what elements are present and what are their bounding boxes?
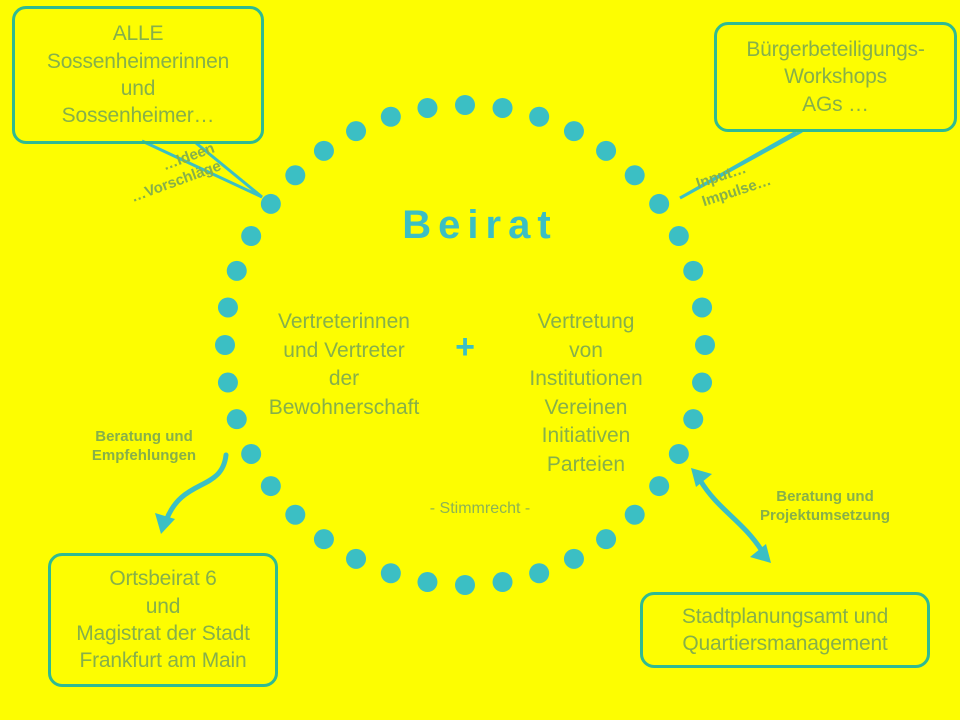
- council-left-line-0: Vertreterinnen: [255, 308, 433, 337]
- annotation-beratung-left-line-0: Beratung und: [84, 428, 204, 447]
- ring-dot: [227, 261, 247, 281]
- bubble-workshops-line-2: AGs …: [723, 91, 948, 118]
- bubble-ortsbeirat-line-3: Frankfurt am Main: [57, 647, 269, 674]
- council-composition: Vertreterinnen und Vertreter der Bewohne…: [255, 308, 675, 479]
- ring-dot: [692, 297, 712, 317]
- bubble-workshops: Bürgerbeteiligungs- Workshops AGs …: [714, 22, 957, 132]
- ring-dot: [596, 141, 616, 161]
- bubble-ortsbeirat-line-1: und: [57, 593, 269, 620]
- annotation-beratung-right-line-0: Beratung und: [750, 488, 900, 507]
- bubble-ortsbeirat: Ortsbeirat 6 und Magistrat der Stadt Fra…: [48, 553, 278, 687]
- ring-dot: [529, 107, 549, 127]
- ring-dot: [564, 549, 584, 569]
- council-right-line-5: Parteien: [497, 451, 675, 480]
- ring-dot: [346, 121, 366, 141]
- bubble-ortsbeirat-line-0: Ortsbeirat 6: [57, 565, 269, 592]
- ring-dot: [314, 141, 334, 161]
- annotation-beratung-empfehlungen: Beratung und Empfehlungen: [84, 428, 204, 466]
- ring-dot: [218, 297, 238, 317]
- council-right-line-0: Vertretung: [497, 308, 675, 337]
- council-right-line-2: Institutionen: [497, 365, 675, 394]
- bubble-stadtplanungsamt-line-1: Quartiersmanagement: [649, 630, 921, 657]
- council-column-residents: Vertreterinnen und Vertreter der Bewohne…: [255, 308, 433, 422]
- bubble-stadtplanungsamt-line-0: Stadtplanungsamt und: [649, 603, 921, 630]
- council-right-line-3: Vereinen: [497, 394, 675, 423]
- bubble-workshops-line-1: Workshops: [723, 63, 948, 90]
- ring-dot: [493, 98, 513, 118]
- plus-icon: +: [445, 330, 485, 364]
- annotation-beratung-projektumsetzung: Beratung und Projektumsetzung: [750, 488, 900, 526]
- annotation-beratung-right-line-1: Projektumsetzung: [750, 507, 900, 526]
- ring-dot: [285, 165, 305, 185]
- council-right-line-4: Initiativen: [497, 422, 675, 451]
- ring-dot: [381, 563, 401, 583]
- annotation-ideen-vorschlaege: …Ideen …Vorschläge: [122, 140, 224, 208]
- ring-dot: [455, 575, 475, 595]
- bubble-citizens-line-3: Sossenheimer…: [21, 102, 255, 129]
- council-left-line-3: Bewohnerschaft: [255, 394, 433, 423]
- ring-dot: [529, 563, 549, 583]
- ring-dot: [346, 549, 366, 569]
- diagram-canvas: Beirat Vertreterinnen und Vertreter der …: [0, 0, 960, 720]
- bubble-workshops-line-0: Bürgerbeteiligungs-: [723, 36, 948, 63]
- council-left-line-2: der: [255, 365, 433, 394]
- ring-dot: [314, 529, 334, 549]
- ring-dot: [417, 98, 437, 118]
- ring-dot: [227, 409, 247, 429]
- ring-dot: [564, 121, 584, 141]
- arrow-beratung-projektumsetzung-head-up: [691, 468, 712, 487]
- ring-dot: [417, 572, 437, 592]
- page-title: Beirat: [0, 203, 960, 248]
- ring-dot: [683, 409, 703, 429]
- bubble-citizens-line-0: ALLE: [21, 20, 255, 47]
- bubble-citizens: ALLE Sossenheimerinnen und Sossenheimer…: [12, 6, 264, 144]
- ring-dot: [625, 165, 645, 185]
- arrow-beratung-projektumsetzung-head-down: [750, 544, 771, 563]
- ring-dot: [695, 335, 715, 355]
- bubble-stadtplanungsamt: Stadtplanungsamt und Quartiersmanagement: [640, 592, 930, 668]
- ring-dot: [455, 95, 475, 115]
- ring-dot: [596, 529, 616, 549]
- ring-dot: [381, 107, 401, 127]
- bubble-citizens-line-2: und: [21, 75, 255, 102]
- ring-dot: [683, 261, 703, 281]
- council-left-line-1: und Vertreter: [255, 337, 433, 366]
- bubble-ortsbeirat-line-2: Magistrat der Stadt: [57, 620, 269, 647]
- ring-dot: [692, 373, 712, 393]
- annotation-beratung-left-line-1: Empfehlungen: [84, 447, 204, 466]
- council-column-institutions: Vertretung von Institutionen Vereinen In…: [497, 308, 675, 479]
- ring-dot: [493, 572, 513, 592]
- ring-dot: [218, 373, 238, 393]
- bubble-citizens-line-1: Sossenheimerinnen: [21, 48, 255, 75]
- council-right-line-1: von: [497, 337, 675, 366]
- ring-dot: [215, 335, 235, 355]
